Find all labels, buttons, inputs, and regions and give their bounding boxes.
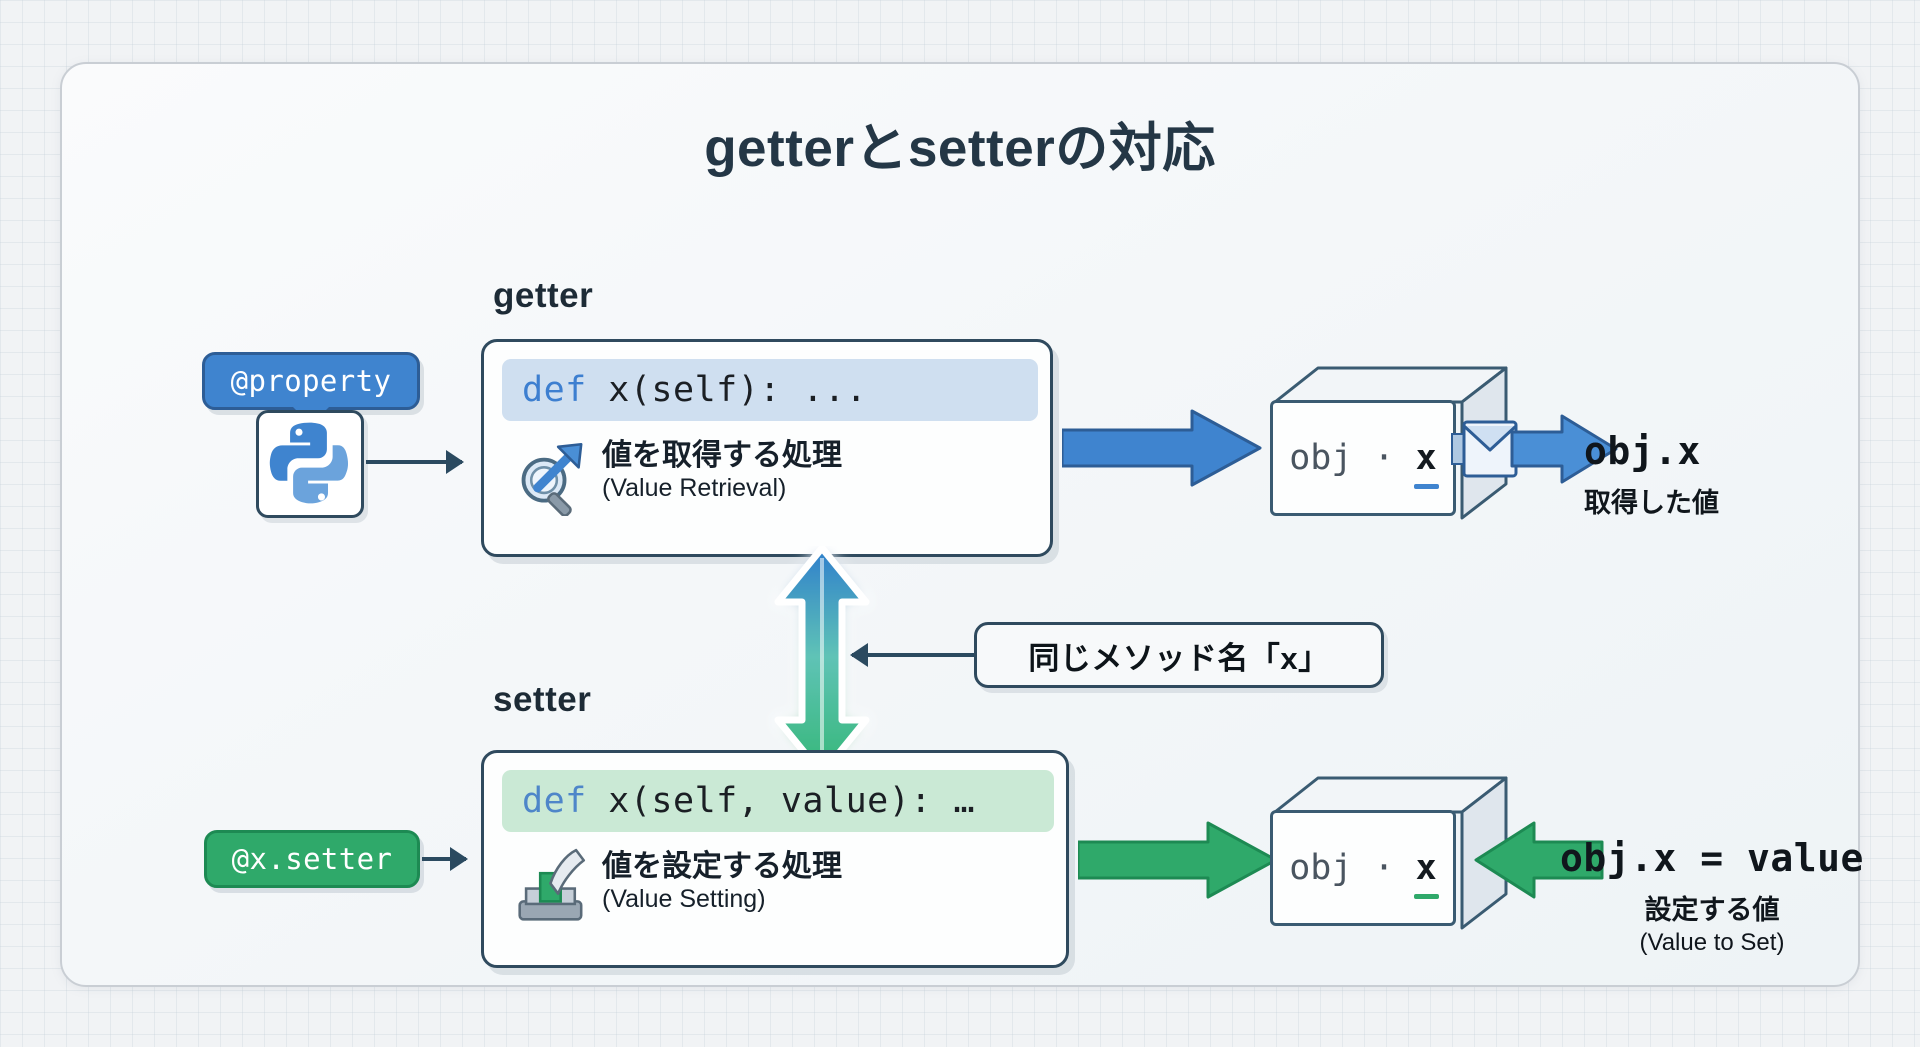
setter-flow-arrow bbox=[1078, 820, 1278, 900]
python-logo-card bbox=[256, 410, 364, 518]
getter-result: obj.x 取得した値 bbox=[1584, 429, 1719, 520]
setter-result-jp: 設定する値 bbox=[1560, 888, 1864, 927]
setter-section-label: setter bbox=[493, 680, 591, 720]
setter-description-jp: 値を設定する処理 bbox=[602, 849, 842, 884]
setter-object-box-prefix: obj · bbox=[1289, 848, 1415, 888]
setter-code-line: def x(self, value): … bbox=[502, 770, 1054, 832]
setter-result-en: (Value to Set) bbox=[1560, 929, 1864, 957]
hand-ballot-box-icon bbox=[512, 845, 594, 927]
property-to-getter-arrow bbox=[366, 460, 462, 464]
setter-description: 値を設定する処理 (Value Setting) bbox=[602, 849, 842, 916]
getter-result-jp: 取得した値 bbox=[1584, 481, 1719, 520]
getter-description-en: (Value Retrieval) bbox=[602, 473, 842, 504]
getter-description-jp: 値を取得する処理 bbox=[602, 438, 842, 473]
magnifier-arrow-icon bbox=[512, 434, 594, 516]
property-decorator-badge: @property bbox=[202, 352, 420, 410]
getter-code-signature: x(self): ... bbox=[587, 370, 867, 410]
getter-code-keyword: def bbox=[522, 370, 587, 410]
setter-decorator-badge: @x.setter bbox=[204, 830, 420, 888]
setter-decorator-arrow bbox=[422, 857, 466, 861]
page-title: getterとsetterの対応 bbox=[62, 106, 1858, 182]
getter-section-label: getter bbox=[493, 276, 593, 316]
getter-code-line: def x(self): ... bbox=[502, 359, 1038, 421]
setter-code-keyword: def bbox=[522, 781, 587, 821]
same-method-name-note: 同じメソッド名「x」 bbox=[974, 622, 1384, 688]
setter-decorator-label: @x.setter bbox=[232, 842, 393, 876]
getter-flow-arrow bbox=[1062, 408, 1262, 488]
setter-object-box-text: obj · x bbox=[1289, 848, 1437, 888]
getter-code-card: def x(self): ... 値を取得する処理 (Value Retriev… bbox=[481, 339, 1053, 557]
getter-object-box-face: obj · x bbox=[1270, 400, 1456, 516]
python-logo-icon bbox=[259, 413, 361, 515]
setter-object-box-attr: x bbox=[1416, 848, 1437, 888]
setter-result: obj.x = value 設定する値 (Value to Set) bbox=[1560, 836, 1864, 957]
getter-object-box-text: obj · x bbox=[1289, 438, 1437, 478]
getter-description: 値を取得する処理 (Value Retrieval) bbox=[602, 438, 842, 505]
setter-result-code: obj.x = value bbox=[1560, 836, 1864, 880]
setter-description-en: (Value Setting) bbox=[602, 884, 842, 915]
diagram-panel: getterとsetterの対応 getter @property def x(… bbox=[60, 62, 1860, 987]
property-decorator-label: @property bbox=[231, 364, 392, 398]
setter-code-card: def x(self, value): … 値を設定する処理 (Value Se… bbox=[481, 750, 1069, 968]
setter-code-signature: x(self, value): … bbox=[587, 781, 975, 821]
getter-object-box-attr: x bbox=[1416, 438, 1437, 478]
same-method-name-label: 同じメソッド名「x」 bbox=[1028, 633, 1329, 678]
getter-result-code: obj.x bbox=[1584, 429, 1719, 473]
same-method-name-connector bbox=[852, 653, 976, 657]
getter-object-box-prefix: obj · bbox=[1289, 438, 1415, 478]
setter-object-box-face: obj · x bbox=[1270, 810, 1456, 926]
